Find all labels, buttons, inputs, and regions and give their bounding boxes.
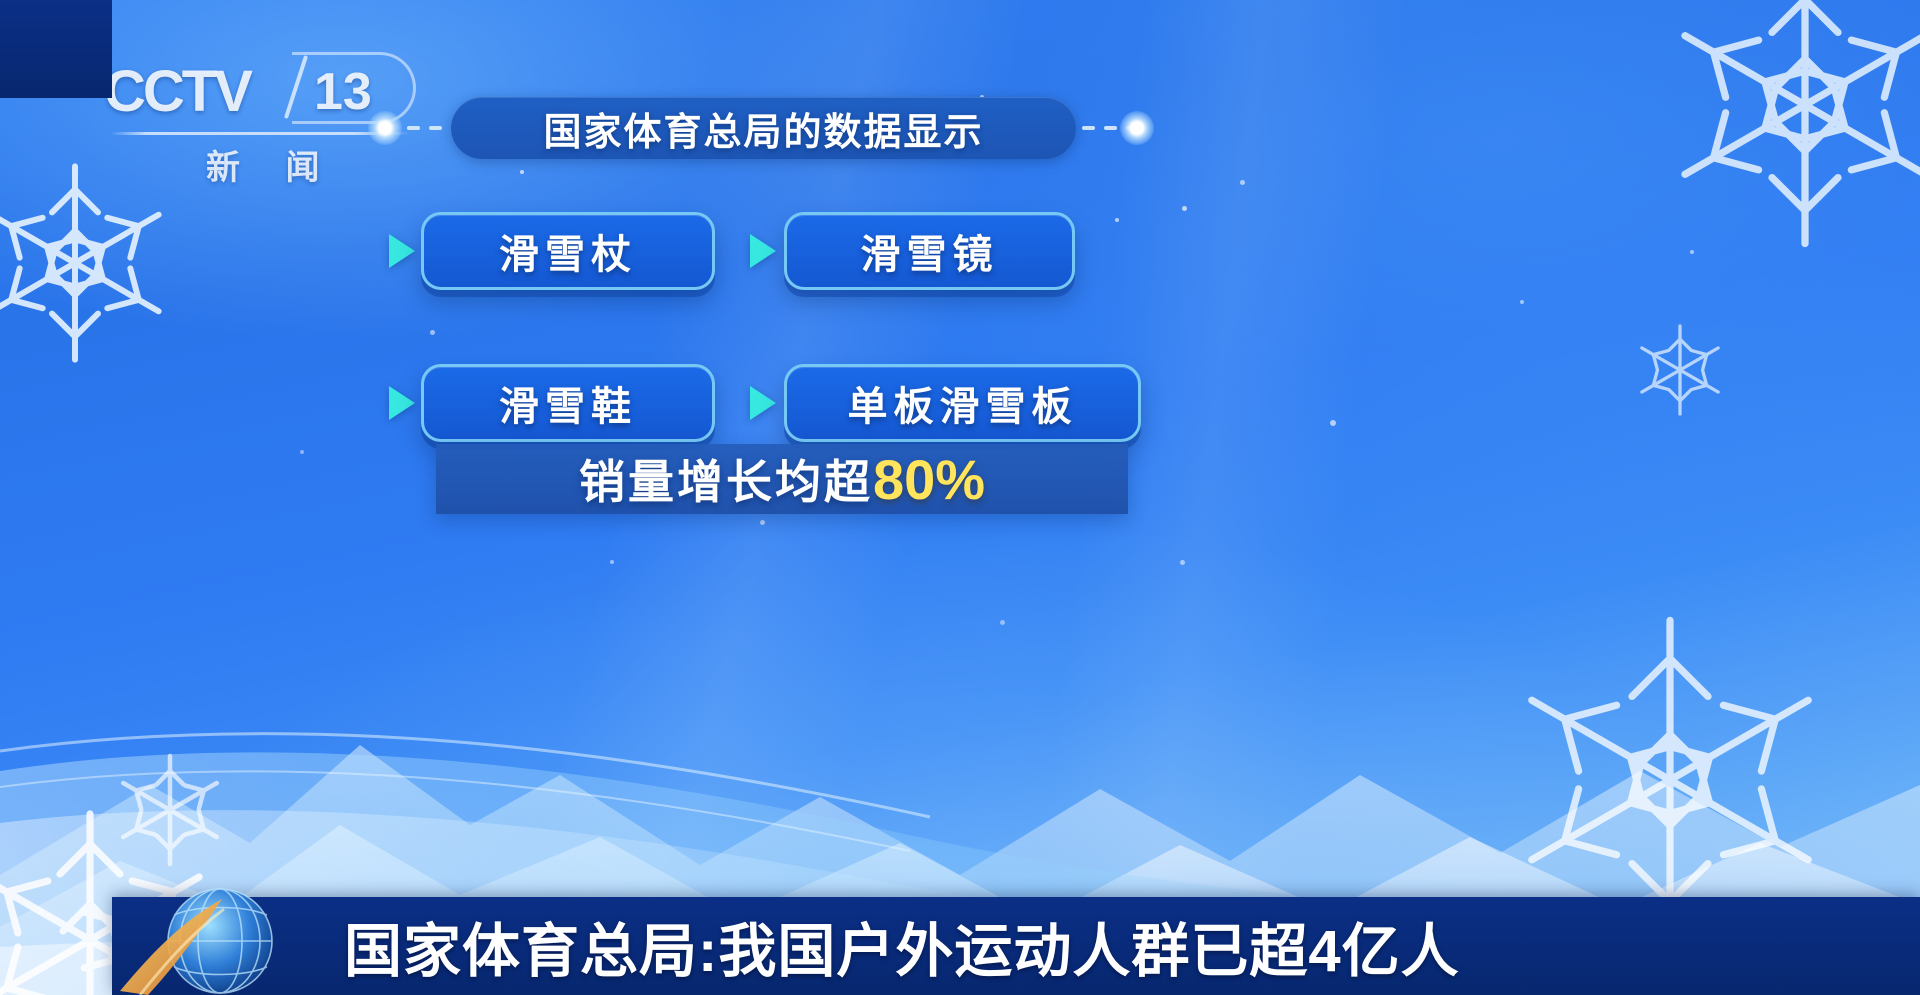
globe-icon <box>102 883 352 995</box>
item-chip-label: 滑雪鞋 <box>499 374 637 432</box>
item-grid: 滑雪杖 滑雪镜 滑雪鞋 单板滑雪板 <box>0 212 1920 478</box>
triangle-right-icon <box>750 234 776 268</box>
item-chip-label: 单板滑雪板 <box>848 374 1078 432</box>
snow-particle <box>610 560 614 564</box>
item-row-1: 滑雪杖 滑雪镜 <box>0 212 1920 326</box>
news-ticker: 国家体育总局:我国户外运动人群已超4亿人 <box>112 897 1920 995</box>
snow-particle <box>1240 180 1245 185</box>
highlight-value: 80% <box>873 447 985 512</box>
triangle-right-icon <box>389 386 415 420</box>
dot-marker-right-icon <box>1120 111 1154 145</box>
item-chip-2[interactable]: 滑雪镜 <box>784 212 1075 290</box>
headline-pill: 国家体育总局的数据显示 <box>451 97 1076 159</box>
snow-particle <box>760 520 765 525</box>
highlight-banner: 销量增长均超 80% <box>436 444 1128 514</box>
snow-particle <box>1000 620 1005 625</box>
item-chip-label: 滑雪杖 <box>499 222 637 280</box>
snow-particle <box>1180 560 1185 565</box>
item-chip-label: 滑雪镜 <box>861 222 999 280</box>
highlight-prefix: 销量增长均超 <box>579 446 873 512</box>
page-title: 国家体育总局的数据显示 <box>543 101 983 156</box>
broadcast-stage: CCTV 13 新 闻 国家体育总局的数据显示 滑雪杖 滑雪镜 <box>0 0 1920 995</box>
headline-row: 国家体育总局的数据显示 <box>0 97 1920 161</box>
triangle-right-icon <box>389 234 415 268</box>
snowflake-icon <box>95 735 245 885</box>
ticker-headline: 国家体育总局:我国户外运动人群已超4亿人 <box>344 904 1460 988</box>
dot-marker-left-icon <box>368 111 402 145</box>
triangle-right-icon <box>750 386 776 420</box>
item-chip-3[interactable]: 滑雪鞋 <box>421 364 715 442</box>
ticker-left-edge <box>0 0 112 98</box>
item-chip-4[interactable]: 单板滑雪板 <box>784 364 1141 442</box>
item-chip-1[interactable]: 滑雪杖 <box>421 212 715 290</box>
snow-particle <box>1182 206 1187 211</box>
snow-particle <box>520 170 524 174</box>
